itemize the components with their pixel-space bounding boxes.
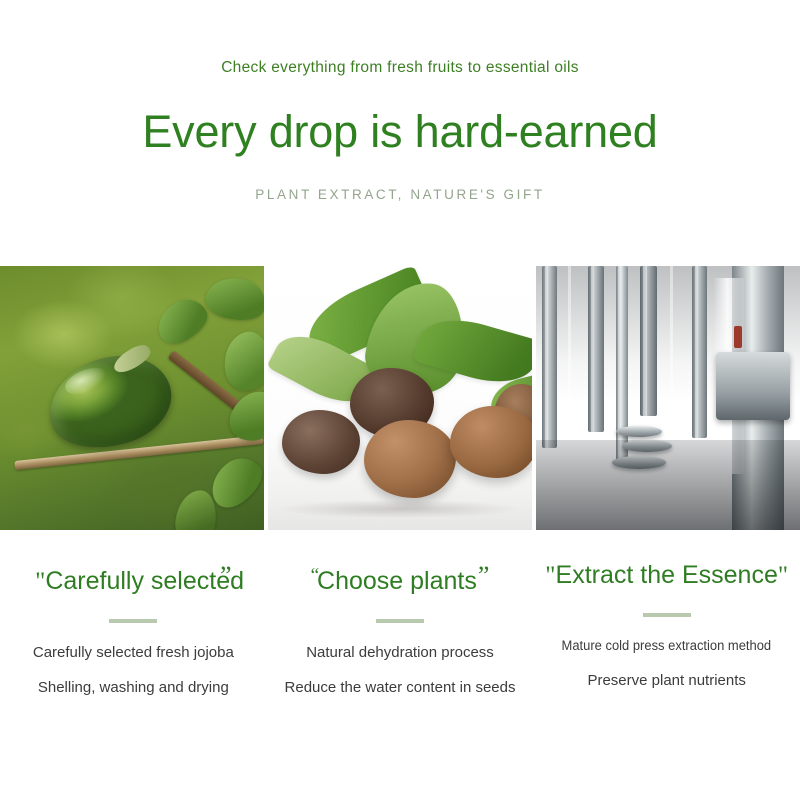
jojoba-seed-shape xyxy=(450,406,532,478)
quote-close-mark: ” xyxy=(220,561,232,590)
card-body-line: Reduce the water content in seeds xyxy=(273,680,528,695)
card-title-text: Choose plants xyxy=(317,567,477,595)
card-body-line: Natural dehydration process xyxy=(273,645,528,660)
image-gallery xyxy=(0,266,800,530)
card-title: “Choose plants” xyxy=(273,560,528,597)
machinery-head-unit xyxy=(716,352,790,420)
machinery-disc xyxy=(616,426,662,437)
machinery-indicator xyxy=(734,326,742,348)
quote-close-mark: ” xyxy=(478,561,490,590)
machinery-pipe xyxy=(668,266,681,466)
machinery-pipe xyxy=(640,266,657,416)
jojoba-fruit-shape xyxy=(38,343,181,462)
card-title: "Carefully selected” xyxy=(6,560,261,597)
card-divider xyxy=(376,619,424,623)
gallery-image-jojoba-seeds xyxy=(268,266,532,530)
process-card-choose-plants: “Choose plants” Natural dehydration proc… xyxy=(267,560,534,695)
leaf-shape xyxy=(202,271,264,326)
machinery-pipe xyxy=(542,266,557,448)
card-body-line: Carefully selected fresh jojoba xyxy=(6,645,261,660)
card-body-line: Mature cold press extraction method xyxy=(544,639,788,653)
jojoba-seed-shape xyxy=(364,420,456,498)
card-body-line: Preserve plant nutrients xyxy=(539,673,794,688)
quote-open-mark: " xyxy=(545,562,555,589)
machinery-pipe xyxy=(692,266,707,438)
card-body: Natural dehydration process Reduce the w… xyxy=(273,645,528,695)
promo-page: Check everything from fresh fruits to es… xyxy=(0,0,800,800)
page-header: Check everything from fresh fruits to es… xyxy=(0,0,800,201)
card-divider xyxy=(643,613,691,617)
quote-close-mark: " xyxy=(778,562,788,589)
machinery-floor xyxy=(536,440,800,530)
gallery-image-extraction-machinery xyxy=(536,266,800,530)
eyebrow-text: Check everything from fresh fruits to es… xyxy=(0,60,800,76)
quote-open-mark: " xyxy=(35,568,45,595)
gallery-image-jojoba-fruit xyxy=(0,266,264,530)
card-body: Mature cold press extraction method Pres… xyxy=(539,639,794,688)
card-title: "Extract the Essence" xyxy=(539,560,794,591)
seed-shadow xyxy=(278,500,518,518)
card-divider xyxy=(109,619,157,623)
machinery-pipe xyxy=(588,266,604,432)
process-card-extract-the-essence: "Extract the Essence" Mature cold press … xyxy=(533,560,800,695)
card-title-text: Carefully selected xyxy=(45,567,244,595)
jojoba-seed-shape xyxy=(282,410,360,474)
process-step-cards: "Carefully selected” Carefully selected … xyxy=(0,560,800,695)
leaf-shape xyxy=(220,329,264,393)
card-body-line: Shelling, washing and drying xyxy=(6,680,261,695)
process-card-carefully-selected: "Carefully selected” Carefully selected … xyxy=(0,560,267,695)
page-subtitle: PLANT EXTRACT, NATURE'S GIFT xyxy=(0,188,800,202)
card-title-text: Extract the Essence xyxy=(556,561,778,589)
card-body: Carefully selected fresh jojoba Shelling… xyxy=(6,645,261,695)
page-title: Every drop is hard-earned xyxy=(0,109,800,154)
